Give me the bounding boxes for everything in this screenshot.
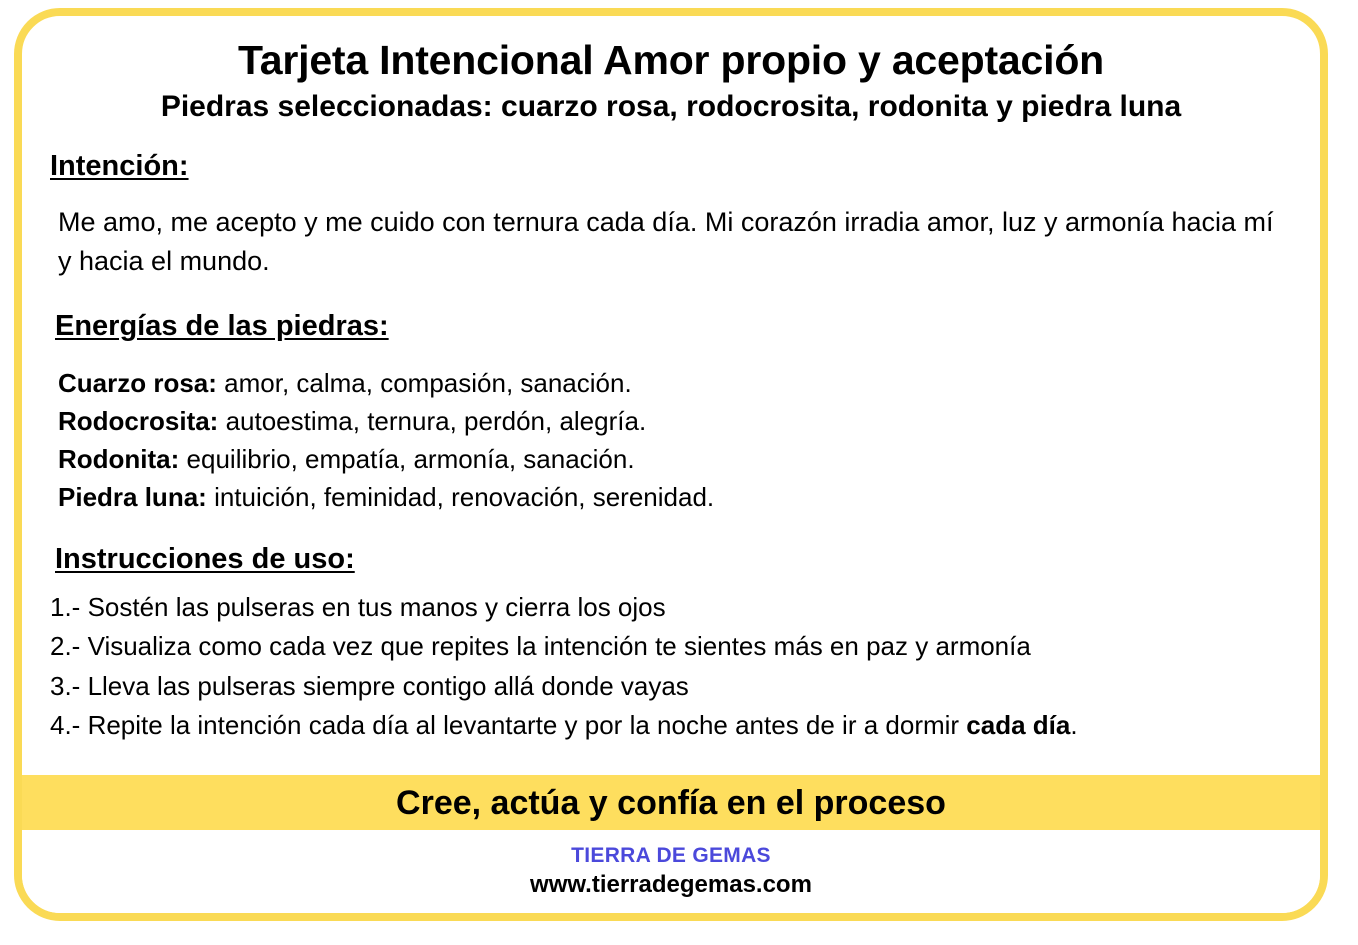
intention-card: Tarjeta Intencional Amor propio y acepta… bbox=[14, 8, 1328, 921]
list-item: 3.- Lleva las pulseras siempre contigo a… bbox=[50, 667, 1320, 707]
stone-name: Rodonita: bbox=[58, 444, 179, 474]
list-item: Piedra luna: intuición, feminidad, renov… bbox=[58, 479, 1320, 517]
website-url: www.tierradegemas.com bbox=[530, 871, 812, 900]
stones-list: Cuarzo rosa: amor, calma, compasión, san… bbox=[58, 365, 1320, 517]
instruction-text: 2.- Visualiza como cada vez que repites … bbox=[50, 631, 1031, 661]
section-heading-energias: Energías de las piedras: bbox=[55, 310, 1320, 343]
page-title: Tarjeta Intencional Amor propio y acepta… bbox=[22, 38, 1320, 84]
list-item: Cuarzo rosa: amor, calma, compasión, san… bbox=[58, 365, 1320, 403]
stone-qualities: equilibrio, empatía, armonía, sanación. bbox=[187, 444, 635, 474]
section-heading-instrucciones: Instrucciones de uso: bbox=[55, 543, 1320, 576]
stone-name: Rodocrosita: bbox=[58, 406, 218, 436]
list-item: 2.- Visualiza como cada vez que repites … bbox=[50, 627, 1320, 667]
stone-qualities: amor, calma, compasión, sanación. bbox=[224, 368, 632, 398]
stone-name: Piedra luna: bbox=[58, 482, 207, 512]
list-item: Rodocrosita: autoestima, ternura, perdón… bbox=[58, 403, 1320, 441]
instruction-emphasis: cada día bbox=[966, 710, 1070, 740]
stone-name: Cuarzo rosa: bbox=[58, 368, 217, 398]
affirmation-banner: Cree, actúa y confía en el proceso bbox=[22, 775, 1320, 830]
list-item: Rodonita: equilibrio, empatía, armonía, … bbox=[58, 441, 1320, 479]
card-footer: TIERRA DE GEMAS www.tierradegemas.com bbox=[22, 830, 1320, 913]
instruction-text: 1.- Sostén las pulseras en tus manos y c… bbox=[50, 592, 666, 622]
list-item: 1.- Sostén las pulseras en tus manos y c… bbox=[50, 588, 1320, 628]
card-body: Tarjeta Intencional Amor propio y acepta… bbox=[22, 16, 1320, 775]
title-block: Tarjeta Intencional Amor propio y acepta… bbox=[22, 16, 1320, 124]
list-item: 4.- Repite la intención cada día al leva… bbox=[50, 706, 1320, 746]
stone-qualities: intuición, feminidad, renovación, sereni… bbox=[214, 482, 714, 512]
instruction-text: 3.- Lleva las pulseras siempre contigo a… bbox=[50, 671, 689, 701]
instruction-tail: . bbox=[1070, 710, 1077, 740]
intention-text: Me amo, me acepto y me cuido con ternura… bbox=[58, 203, 1287, 280]
instruction-text: 4.- Repite la intención cada día al leva… bbox=[50, 710, 966, 740]
brand-name: TIERRA DE GEMAS bbox=[571, 844, 771, 868]
affirmation-banner-text: Cree, actúa y confía en el proceso bbox=[396, 786, 946, 820]
section-heading-intencion: Intención: bbox=[50, 150, 1320, 183]
stone-qualities: autoestima, ternura, perdón, alegría. bbox=[226, 406, 647, 436]
page-subtitle: Piedras seleccionadas: cuarzo rosa, rodo… bbox=[22, 90, 1320, 125]
instructions-list: 1.- Sostén las pulseras en tus manos y c… bbox=[50, 588, 1320, 746]
